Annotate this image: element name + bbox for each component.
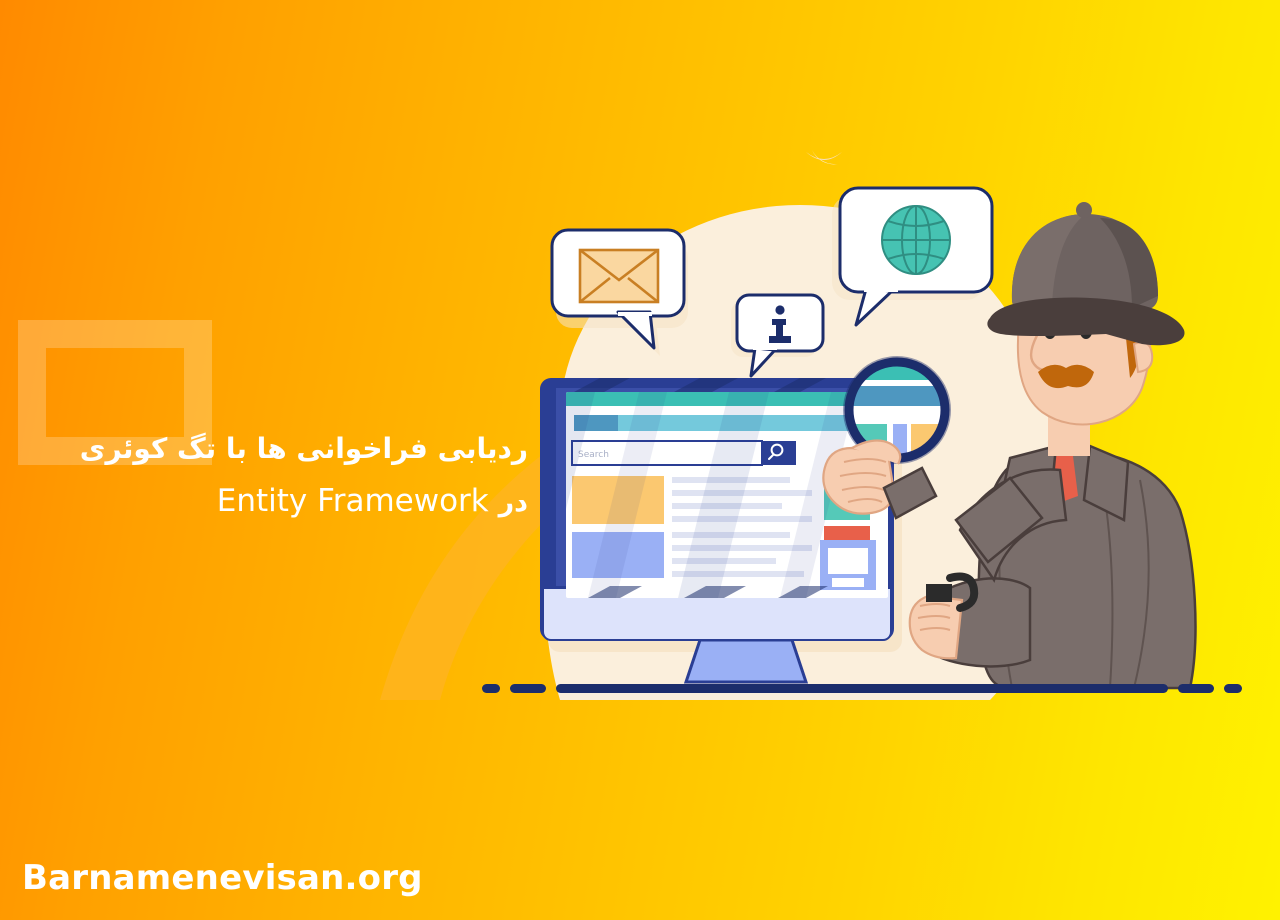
page-title: ردیابی فراخوانی ها با تگ کوئری در Entity… <box>0 432 540 523</box>
globe-icon <box>882 206 950 274</box>
headline-line-2-persian: در <box>499 487 528 518</box>
site-watermark: Barnamenevisan.org <box>22 858 423 898</box>
headline-line-2: در Entity Framework <box>0 481 528 523</box>
deerstalker-hat <box>987 202 1184 345</box>
headline-line-2-latin: Entity Framework <box>217 483 489 519</box>
ground-dashed-line <box>482 684 1242 693</box>
banner-canvas: Search <box>0 0 1280 920</box>
monitor: Search <box>508 378 902 682</box>
envelope-icon <box>580 250 658 302</box>
svg-text:Search: Search <box>578 450 609 460</box>
headline-line-1: ردیابی فراخوانی ها با تگ کوئری <box>0 432 528 466</box>
